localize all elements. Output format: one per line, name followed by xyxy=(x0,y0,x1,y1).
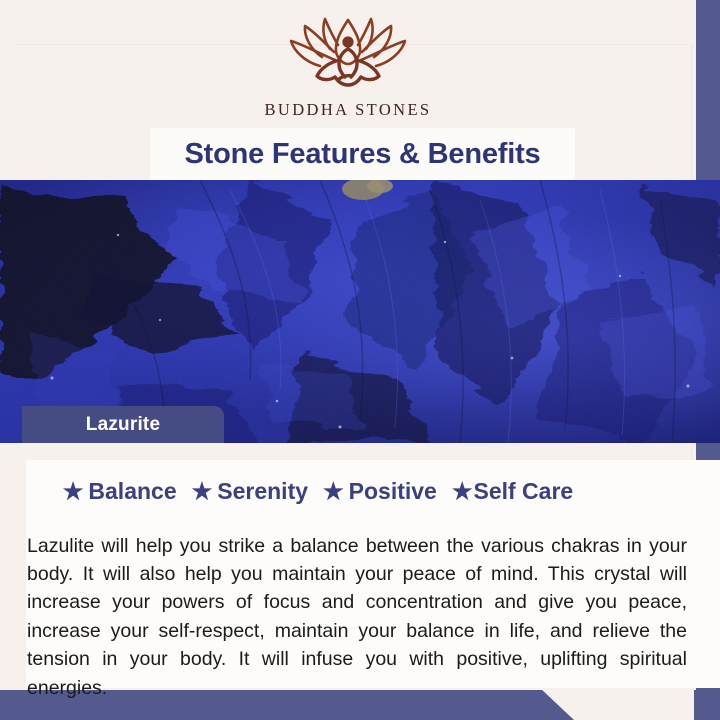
stone-name: Lazurite xyxy=(86,414,160,436)
stone-features-infographic: BUDDHA STONES Stone Features & Benefits xyxy=(0,0,720,720)
stone-texture-graphic xyxy=(0,180,720,443)
title-banner: Stone Features & Benefits xyxy=(150,128,575,180)
content-panel: ★ Balance ★ Serenity ★ Positive ★ Self C… xyxy=(26,460,720,688)
lazurite-stone-photo xyxy=(0,180,720,443)
benefit-label: Positive xyxy=(349,478,437,505)
stone-name-chip: Lazurite xyxy=(22,406,224,443)
star-icon: ★ xyxy=(452,480,473,503)
star-icon: ★ xyxy=(192,480,213,503)
star-icon: ★ xyxy=(63,480,84,503)
benefit-item-serenity: ★ Serenity xyxy=(192,478,308,505)
benefit-item-balance: ★ Balance xyxy=(63,478,177,505)
star-icon: ★ xyxy=(323,480,344,503)
benefit-label: Serenity xyxy=(217,478,308,505)
page-title: Stone Features & Benefits xyxy=(185,138,541,171)
brand-logo: BUDDHA STONES xyxy=(0,14,696,120)
benefit-item-self-care: ★ Self Care xyxy=(452,478,573,505)
brand-name: BUDDHA STONES xyxy=(0,100,696,120)
lotus-meditation-figure-icon xyxy=(272,14,424,96)
stone-description: Lazulite will help you strike a balance … xyxy=(27,532,687,703)
benefits-list: ★ Balance ★ Serenity ★ Positive ★ Self C… xyxy=(26,478,610,505)
benefit-label: Balance xyxy=(88,478,176,505)
benefit-item-positive: ★ Positive xyxy=(323,478,437,505)
benefit-label: Self Care xyxy=(473,478,573,505)
